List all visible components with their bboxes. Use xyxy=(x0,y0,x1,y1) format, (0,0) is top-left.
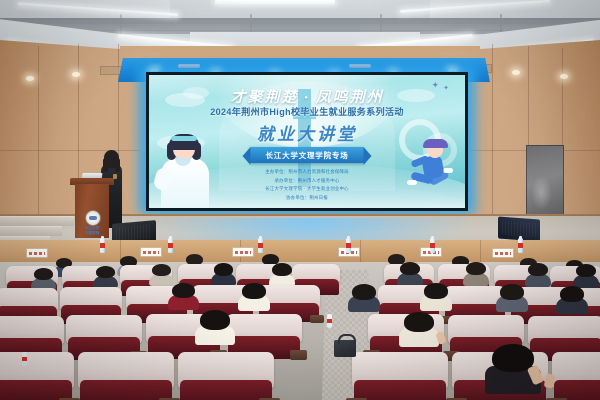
name-placard xyxy=(492,248,514,258)
audience-person xyxy=(352,284,376,311)
wall-downlight xyxy=(72,72,80,77)
water-bottle xyxy=(346,238,351,253)
audience-person xyxy=(172,283,195,309)
auditorium-seat xyxy=(552,352,600,400)
wall-dark-panel xyxy=(526,145,564,222)
audience-person xyxy=(500,284,524,311)
floor-water-bottle xyxy=(327,314,332,328)
water-bottle xyxy=(518,238,523,253)
audience-person xyxy=(96,266,115,287)
auditorium-seat xyxy=(78,352,174,400)
screen-headline-big: 就业大讲堂 xyxy=(149,120,465,145)
name-placard xyxy=(140,247,162,257)
name-placard xyxy=(26,248,48,258)
screen-headline-sub: 2024年荆州市High校毕业生就业服务系列活动 xyxy=(149,105,465,118)
wall-downlight xyxy=(512,70,520,75)
audience-person xyxy=(152,264,171,285)
auditorium-seat xyxy=(0,352,74,400)
lecture-hall-photo: ✦ ✦ 才聚荆楚 · 凤鸣荆州 2024年荆州市High校毕业生就业服务系列活动… xyxy=(0,0,600,400)
audience-person xyxy=(560,286,584,313)
credit-line: 承办单位：荆州市人才服务中心 xyxy=(149,177,465,186)
audience-person xyxy=(34,268,53,289)
audience-person xyxy=(404,312,434,346)
audience-person xyxy=(466,262,486,285)
audience-person xyxy=(576,264,596,287)
led-screen[interactable]: ✦ ✦ 才聚荆楚 · 凤鸣荆州 2024年荆州市High校毕业生就业服务系列活动… xyxy=(149,75,465,208)
audience-person xyxy=(200,310,230,344)
screen-text-block: 才聚荆楚 · 凤鸣荆州 2024年荆州市High校毕业生就业服务系列活动 就业大… xyxy=(149,75,465,208)
name-placard xyxy=(232,247,254,257)
credit-line: 主办单位：荆州市人力资源和社会保障局 xyxy=(149,168,465,177)
water-bottle xyxy=(100,238,105,253)
podium-emblem xyxy=(85,210,101,226)
water-bottle xyxy=(258,238,263,253)
screen-headline-main: 才聚荆楚 · 凤鸣荆州 xyxy=(149,86,465,107)
audience-person xyxy=(424,283,448,310)
screen-ribbon-banner: 长江大学文理学院专场 xyxy=(250,147,365,163)
credit-line: 协办单位：荆州日报 xyxy=(149,194,465,203)
audience-person xyxy=(400,262,420,285)
handbag xyxy=(334,340,356,357)
audience-person xyxy=(528,263,548,286)
audience-person xyxy=(214,263,233,285)
floor-water-bottle xyxy=(22,352,27,366)
screen-credits: 主办单位：荆州市人力资源和社会保障局 承办单位：荆州市人才服务中心 长江大学文理… xyxy=(149,168,465,202)
ceiling-light-strip xyxy=(215,0,335,4)
wall-downlight xyxy=(560,74,568,79)
audience-person xyxy=(242,283,266,310)
credit-line: 长江大学文理学院 · 大学生就业创业中心 xyxy=(149,185,465,194)
podium: 长江大学 文理学院 xyxy=(72,178,112,238)
podium-label: 长江大学 文理学院 xyxy=(75,226,109,237)
auditorium-seat xyxy=(352,352,448,400)
water-bottle xyxy=(430,238,435,253)
audience-person xyxy=(272,263,292,286)
wall-downlight xyxy=(26,76,34,81)
water-bottle xyxy=(168,238,173,253)
auditorium-seat xyxy=(178,352,274,400)
